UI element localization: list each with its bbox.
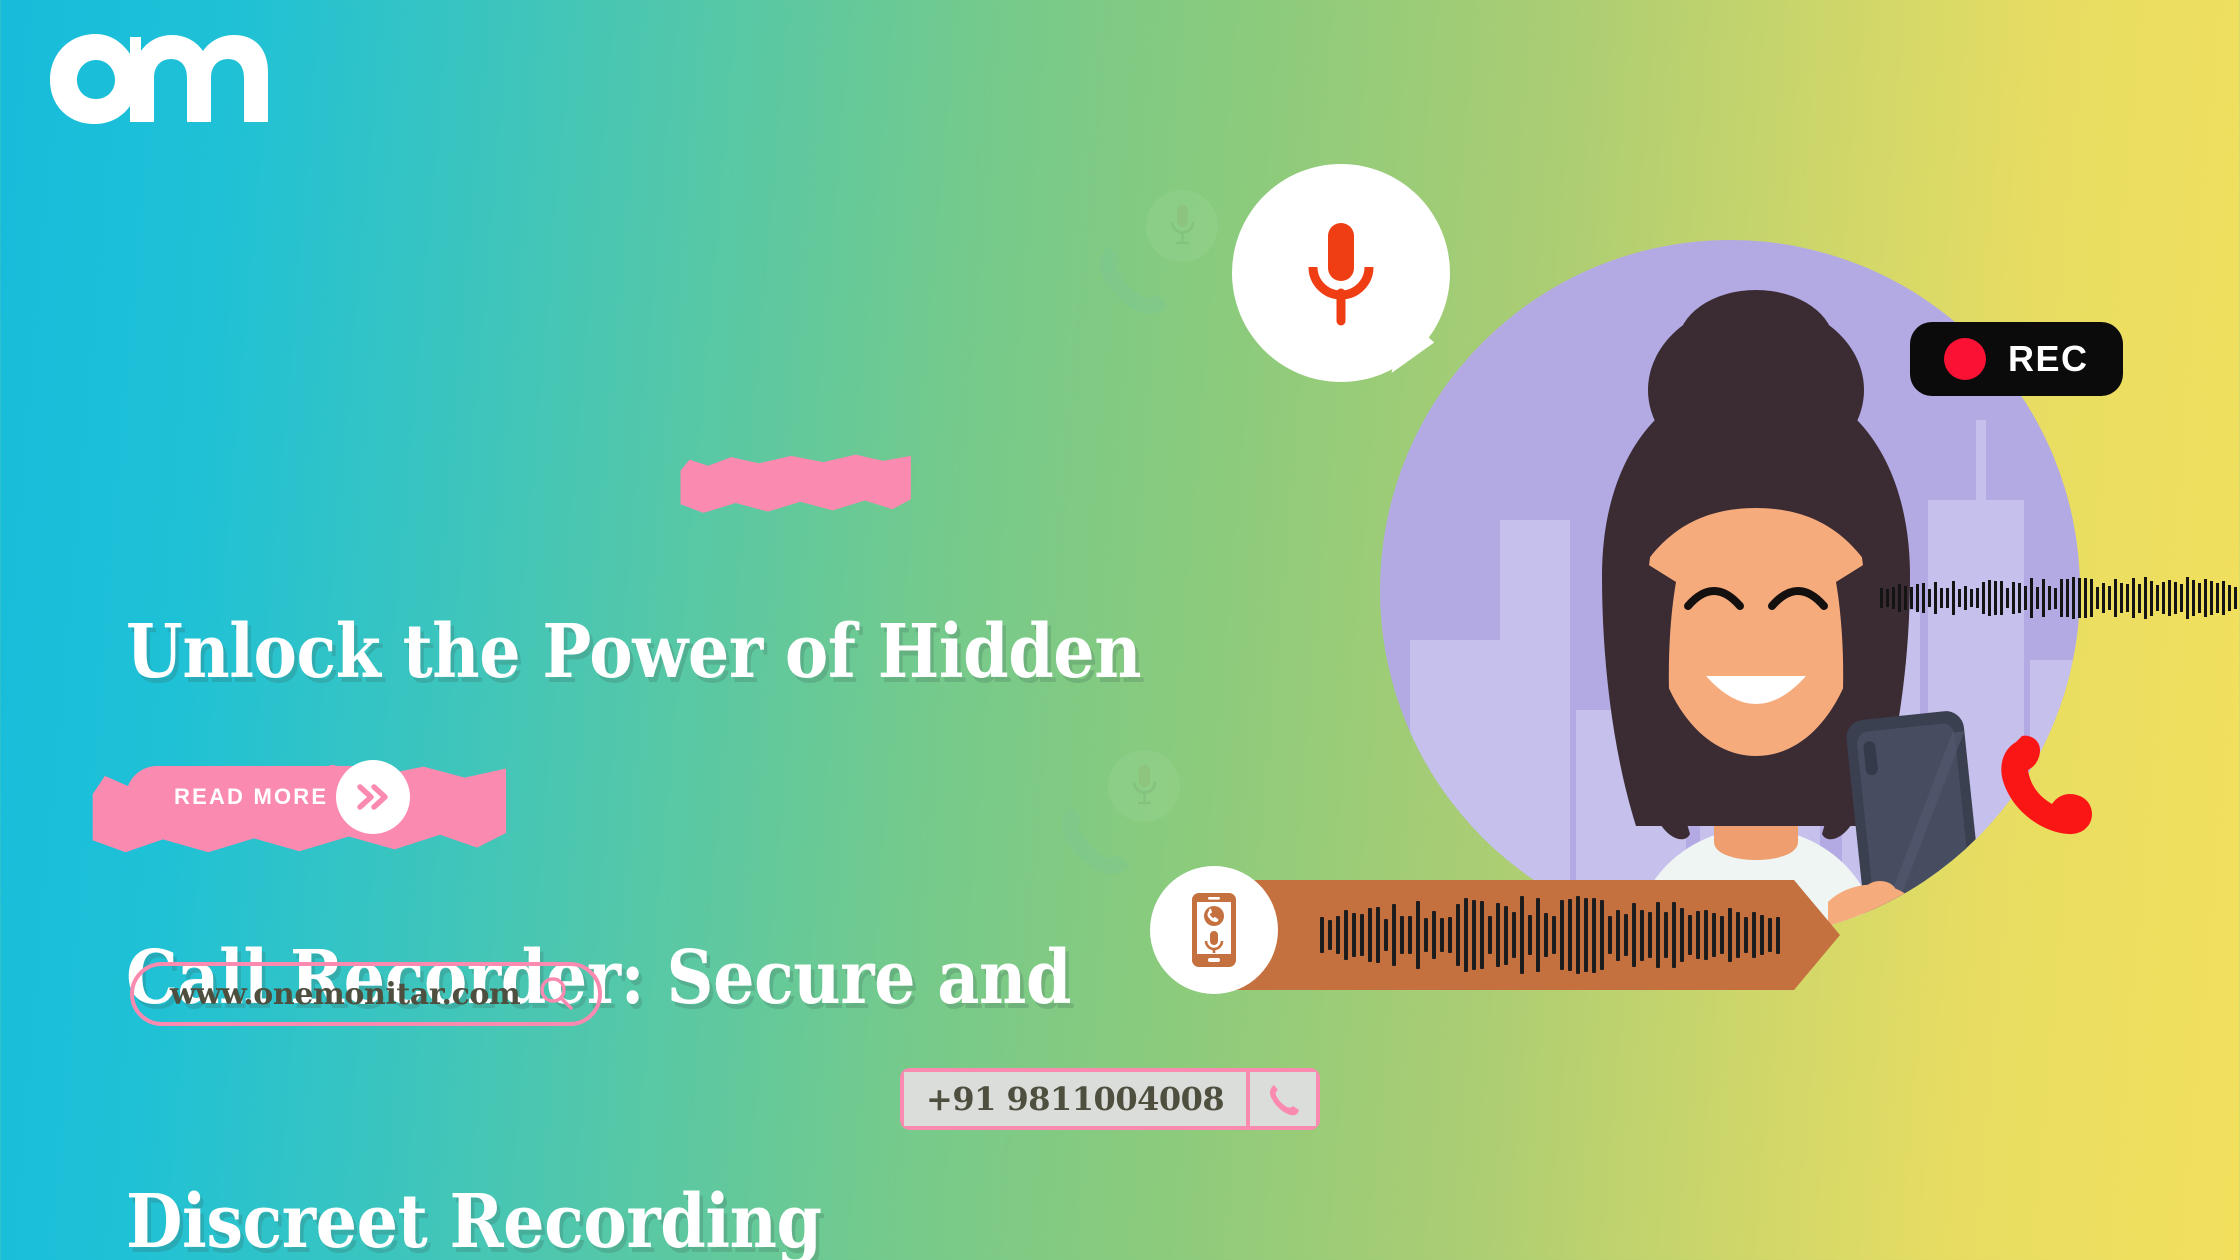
- waveform-bar: [2132, 578, 2135, 619]
- read-more-arrow-badge[interactable]: [336, 760, 410, 834]
- waveform-bar: [1376, 907, 1380, 964]
- waveform-bar: [1504, 906, 1508, 965]
- waveform-bar: [2006, 588, 2009, 608]
- waveform-bar: [1488, 916, 1492, 955]
- waveform-bar: [1480, 901, 1484, 969]
- waveform-bar: [2018, 583, 2021, 613]
- waveform-bar: [2126, 584, 2129, 613]
- waveform-bar: [2174, 582, 2177, 613]
- call-recorder-badge: [1150, 866, 1278, 994]
- waveform-bar: [2144, 577, 2147, 620]
- waveform-bar: [1552, 916, 1556, 955]
- waveform-bar: [2234, 587, 2237, 609]
- waveform-bar: [1680, 908, 1684, 961]
- waveform-bar: [1994, 581, 1997, 616]
- waveform-bar: [1744, 917, 1748, 954]
- waveform-bar: [2180, 584, 2183, 612]
- waveform-bar: [1720, 916, 1724, 955]
- waveform-bar: [2138, 584, 2141, 613]
- waveform-bar: [2216, 583, 2219, 613]
- waveform-bar: [1640, 910, 1644, 961]
- waveform-bar: [2096, 587, 2099, 609]
- headline-line-1: Unlock the Power of Hidden: [126, 449, 1164, 693]
- waveform-bar: [1624, 914, 1628, 956]
- waveform-bar: [1922, 583, 1925, 612]
- waveform-bar: [2204, 579, 2207, 617]
- waveform-bar: [1946, 588, 1949, 608]
- waveform-bar: [1934, 582, 1937, 614]
- waveform-bar: [1688, 915, 1692, 954]
- waveform-bar: [1336, 916, 1340, 954]
- waveform-bar: [1964, 586, 1967, 610]
- audio-waveform-icon: [1320, 895, 1780, 975]
- read-more-label: READ MORE: [174, 784, 328, 810]
- waveform-bar: [1392, 904, 1396, 967]
- waveform-bar: [1456, 904, 1460, 966]
- waveform-bar: [1600, 900, 1604, 970]
- audio-waveform-small: [1880, 572, 2240, 624]
- waveform-bar: [1408, 916, 1412, 954]
- microphone-icon: [1304, 217, 1378, 329]
- search-icon[interactable]: [536, 974, 576, 1014]
- waveform-bar: [2060, 579, 2063, 616]
- headline-line-1-text: Unlock the Power of: [126, 609, 878, 695]
- phone-with-mic-icon: [1184, 891, 1244, 969]
- waveform-bar: [1520, 896, 1524, 974]
- waveform-bar: [1704, 910, 1708, 960]
- waveform-bar: [1352, 913, 1356, 957]
- waveform-bar: [2078, 578, 2081, 618]
- waveform-bar: [2198, 583, 2201, 612]
- waveform-bar: [1472, 900, 1476, 970]
- waveform-bar: [1898, 584, 1901, 611]
- waveform-bar: [1360, 914, 1364, 956]
- waveform-bar: [2066, 579, 2069, 617]
- waveform-bar: [1448, 917, 1452, 954]
- onemonitar-logo[interactable]: [44, 26, 274, 131]
- waveform-bar: [1528, 915, 1532, 955]
- waveform-bar: [1496, 903, 1500, 967]
- waveform-bar: [1608, 916, 1612, 954]
- waveform-bar: [2084, 578, 2087, 619]
- waveform-bar: [1760, 915, 1764, 955]
- headline-line-1-highlight: Hidden: [878, 609, 1141, 695]
- headline-line-2-text: Secure and: [644, 935, 1071, 1021]
- waveform-bar: [1400, 916, 1404, 954]
- call-recording-waveform-banner: [1200, 880, 1840, 990]
- website-url-text: www.onemonitar.com: [170, 977, 520, 1012]
- waveform-bar: [2222, 581, 2225, 615]
- waveform-bar: [1368, 908, 1372, 961]
- waveform-bar: [1568, 899, 1572, 971]
- waveform-bar: [1384, 919, 1388, 951]
- waveform-bar: [1752, 912, 1756, 957]
- waveform-bar: [1416, 901, 1420, 969]
- waveform-bar: [1768, 918, 1772, 952]
- waveform-bar: [1512, 912, 1516, 958]
- phone-handset-icon: [1990, 732, 2100, 842]
- waveform-bar: [1970, 589, 1973, 607]
- waveform-bar: [1910, 587, 1913, 610]
- waveform-bar: [1576, 896, 1580, 973]
- waveform-bar: [2012, 582, 2015, 614]
- waveform-bar: [2156, 585, 2159, 611]
- waveform-bar: [1904, 586, 1907, 610]
- waveform-bar: [2162, 582, 2165, 615]
- waveform-bar: [2120, 583, 2123, 614]
- waveform-bar: [1672, 902, 1676, 969]
- waveform-bar: [1464, 898, 1468, 972]
- waveform-bar: [2036, 587, 2039, 609]
- waveform-bar: [1328, 920, 1332, 951]
- waveform-bar: [2192, 580, 2195, 615]
- waveform-bar: [1736, 912, 1740, 957]
- waveform-bar: [1320, 917, 1324, 953]
- waveform-bar: [1632, 903, 1636, 967]
- microphone-speech-bubble: [1232, 164, 1450, 382]
- waveform-bar: [2114, 579, 2117, 616]
- waveform-bar: [1892, 587, 1895, 608]
- rec-badge-label: REC: [2008, 338, 2089, 380]
- waveform-bar: [1584, 898, 1588, 973]
- hero-illustration: REC: [1140, 0, 2240, 1260]
- double-chevron-right-icon: [355, 782, 391, 812]
- waveform-bar: [2186, 577, 2189, 618]
- waveform-bar: [1880, 588, 1883, 609]
- waveform-bar: [2168, 580, 2171, 615]
- waveform-bar: [1988, 580, 1991, 616]
- waveform-bar: [2102, 583, 2105, 612]
- waveform-bar: [2090, 579, 2093, 618]
- waveform-bar: [1432, 911, 1436, 959]
- waveform-bar: [1616, 910, 1620, 961]
- record-dot-icon: [1944, 338, 1986, 380]
- waveform-bar: [1728, 908, 1732, 962]
- waveform-bar: [1424, 918, 1428, 953]
- waveform-bar: [2054, 588, 2057, 609]
- waveform-bar: [2024, 586, 2027, 610]
- waveform-bar: [2030, 578, 2033, 617]
- waveform-bar: [1440, 918, 1444, 953]
- waveform-bar: [1664, 912, 1668, 958]
- waveform-bar: [1776, 917, 1780, 954]
- waveform-bar: [2210, 581, 2213, 615]
- website-url-pill[interactable]: www.onemonitar.com: [130, 962, 602, 1026]
- waveform-bar: [1592, 898, 1596, 973]
- waveform-bar: [1536, 898, 1540, 973]
- waveform-bar: [1982, 582, 1985, 613]
- waveform-bar: [1916, 584, 1919, 612]
- rec-badge: REC: [1910, 322, 2123, 396]
- waveform-bar: [1928, 589, 1931, 606]
- waveform-bar: [2150, 581, 2153, 616]
- waveform-bar: [1712, 913, 1716, 957]
- waveform-bar: [1648, 912, 1652, 959]
- waveform-bar: [1344, 910, 1348, 961]
- waveform-bar: [1886, 589, 1889, 607]
- headline-line-3-text: Discreet Recording: [126, 1179, 822, 1260]
- waveform-bar: [1958, 589, 1961, 607]
- waveform-bar: [2108, 586, 2111, 611]
- waveform-bar: [2228, 585, 2231, 611]
- waveform-bar: [1696, 911, 1700, 959]
- waveform-bar: [1656, 902, 1660, 968]
- waveform-bar: [2000, 581, 2003, 615]
- read-more-button[interactable]: READ MORE: [126, 766, 398, 828]
- waveform-bar: [2048, 586, 2051, 610]
- waveform-bar: [1952, 581, 1955, 615]
- waveform-bar: [2072, 577, 2075, 618]
- waveform-bar: [1560, 900, 1564, 971]
- waveform-bar: [1544, 913, 1548, 957]
- pink-brush-stroke-1: [680, 453, 911, 515]
- waveform-bar: [2042, 579, 2045, 617]
- waveform-bar: [1940, 588, 1943, 608]
- waveform-bar: [1976, 588, 1979, 607]
